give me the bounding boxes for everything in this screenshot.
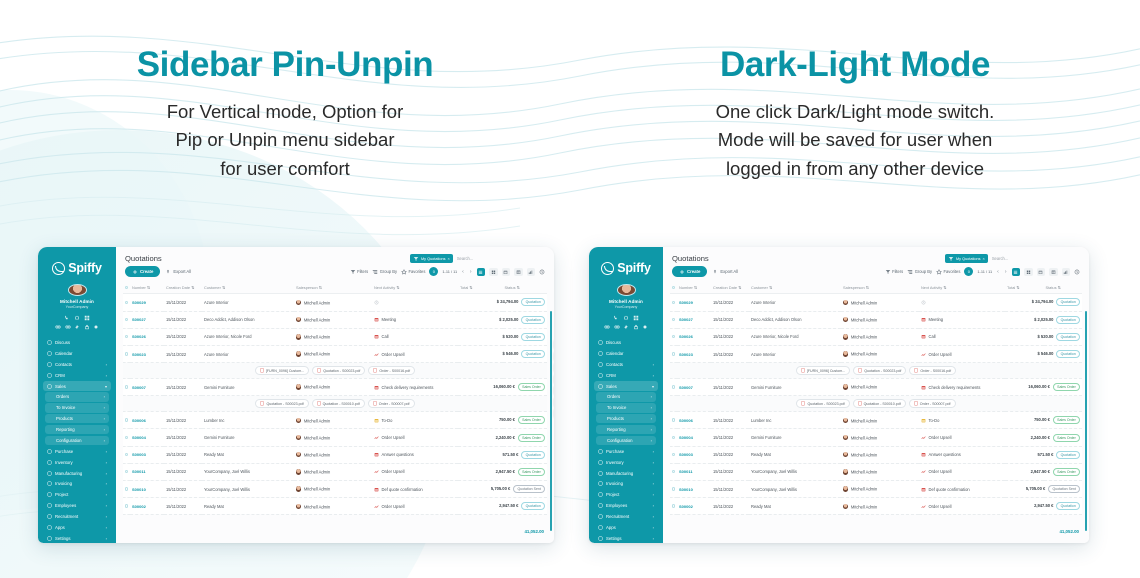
row-checkbox-cell[interactable] [123, 463, 130, 480]
attachment-name: Order - S00016.pdf [379, 369, 410, 373]
row-checkbox-cell[interactable] [670, 379, 677, 396]
checkbox-icon[interactable] [672, 301, 675, 304]
sidebar-item-discuss[interactable]: Discuss [594, 338, 658, 347]
sidebar-item-calendar[interactable]: Calendar [594, 349, 658, 358]
select-all-header[interactable] [670, 282, 677, 294]
grid-icon[interactable] [633, 315, 639, 321]
row-checkbox-cell[interactable] [670, 446, 677, 463]
cell-creation-date: 15/11/2022 [164, 311, 202, 328]
row-checkbox-cell[interactable] [123, 294, 130, 311]
sidebar-item-contacts[interactable]: Contacts› [43, 360, 111, 369]
row-checkbox-cell[interactable] [123, 481, 130, 498]
salesperson-name: Mitchell Admin [304, 470, 330, 475]
close-icon[interactable]: × [982, 256, 984, 261]
row-checkbox-cell[interactable] [123, 498, 130, 515]
checkbox-icon[interactable] [125, 504, 128, 507]
search-area[interactable]: My Quotations × Search... [945, 254, 1080, 263]
table-row[interactable]: S0000615/11/2022Lumber IncMitchell Admin… [123, 412, 547, 429]
pager-next-button[interactable]: › [1004, 269, 1008, 275]
quick-icons-row-1[interactable] [64, 315, 90, 321]
chevron-right-icon[interactable]: › [106, 503, 107, 508]
lock-icon[interactable] [84, 324, 90, 330]
row-checkbox-cell[interactable] [670, 498, 677, 515]
cell-number[interactable]: S00004 [677, 429, 711, 446]
sidebar-item-orders[interactable]: Orders› [596, 392, 656, 401]
table-row[interactable]: S0001015/11/2022YourCompany, Joel Willis… [670, 481, 1082, 498]
table-head: Number ⇅Creation Date ⇅Customer ⇅Salespe… [123, 282, 547, 294]
chevron-right-icon[interactable]: › [653, 362, 654, 367]
attachment-chip[interactable]: Quotation - S00023.pdf [255, 399, 308, 408]
export-all-button[interactable]: Export All [712, 269, 738, 275]
primary-actions: Create Export All [672, 266, 738, 277]
cell-salesperson: Mitchell Admin [841, 311, 919, 328]
call-icon[interactable] [613, 315, 619, 321]
brand-logo[interactable]: Spiffy [601, 261, 651, 275]
cell-number[interactable]: S00027 [130, 311, 164, 328]
attachment-chip[interactable]: Order - S00016.pdf [368, 366, 415, 375]
chevron-right-icon[interactable]: › [106, 525, 107, 530]
sales-icon [47, 384, 52, 389]
create-button[interactable]: Create [672, 266, 707, 277]
sidebar-item-to-invoice[interactable]: To Invoice› [45, 403, 109, 412]
project-icon [598, 492, 603, 497]
calendar-view-button[interactable] [502, 268, 511, 276]
chevron-right-icon[interactable]: › [653, 525, 654, 530]
cell-customer: Ready Mat [202, 498, 294, 515]
quick-icons-row-2[interactable] [55, 324, 99, 330]
column-header-number[interactable]: Number ⇅ [677, 282, 711, 294]
checkbox-icon[interactable] [672, 352, 675, 355]
chevron-right-icon[interactable]: › [651, 427, 652, 432]
chevron-right-icon[interactable]: › [651, 405, 652, 410]
pin-icon[interactable] [74, 324, 80, 330]
checkbox-icon[interactable] [125, 436, 128, 439]
export-all-button[interactable]: Export All [165, 269, 191, 275]
table-row[interactable]: S0000615/11/2022Lumber IncMitchell Admin… [670, 412, 1082, 429]
search-input[interactable]: Search... [992, 256, 1080, 261]
sidebar-item-to-invoice[interactable]: To Invoice› [596, 403, 656, 412]
sidebar-item-project[interactable]: Project› [43, 490, 111, 499]
pin-icon[interactable] [623, 324, 629, 330]
checkbox-icon[interactable] [125, 318, 128, 321]
checkbox-icon[interactable] [125, 453, 128, 456]
table-row[interactable]: S0000215/11/2022Ready MatMitchell AdminO… [123, 498, 547, 515]
table-row[interactable]: S0002915/11/2022Azure InteriorMitchell A… [670, 294, 1082, 311]
sidebar-item-crm[interactable]: CRM› [594, 371, 658, 380]
cell-number[interactable]: S00003 [677, 446, 711, 463]
gear-icon [47, 536, 52, 541]
checkbox-icon[interactable] [125, 286, 128, 289]
chevron-right-icon[interactable]: › [104, 394, 105, 399]
bell-icon[interactable] [74, 315, 80, 321]
table-row[interactable]: S0002315/11/2022Azure InteriorMitchell A… [123, 345, 547, 362]
chevron-right-icon[interactable]: › [651, 416, 652, 421]
cell-creation-date: 15/11/2022 [711, 463, 749, 480]
checkbox-icon[interactable] [672, 286, 675, 289]
attachment-chip[interactable]: Quotation - S00010.pdf [853, 399, 906, 408]
list-view-button[interactable] [477, 268, 486, 276]
chevron-right-icon[interactable]: › [106, 514, 107, 519]
attachment-chip[interactable]: Order - S00016.pdf [909, 366, 956, 375]
cell-number[interactable]: S00007 [677, 379, 711, 396]
row-checkbox-cell[interactable] [670, 412, 677, 429]
column-header-creation-date[interactable]: Creation Date ⇅ [711, 282, 749, 294]
status-badge: Quotation [1056, 333, 1080, 341]
table-row[interactable]: S0000715/11/2022Gemini FurnitureMitchell… [123, 379, 547, 396]
column-header-number[interactable]: Number ⇅ [130, 282, 164, 294]
checkbox-icon[interactable] [125, 385, 128, 388]
pivot-view-button[interactable] [514, 268, 523, 276]
filters-button[interactable]: Filters [885, 269, 904, 275]
table-row[interactable]: S0000715/11/2022Gemini FurnitureMitchell… [670, 379, 1082, 396]
total-bar: 41,052.00 [116, 517, 554, 543]
chevron-down-icon[interactable]: ▾ [105, 384, 107, 389]
sidebar-item-label: Manufacturing [55, 471, 103, 476]
sidebar-item-recruitment[interactable]: Recruitment› [43, 512, 111, 521]
cell-number[interactable]: S00010 [130, 481, 164, 498]
sidebar-right[interactable]: Spiffy Mitchell Admin YourCompany [589, 247, 663, 543]
chevron-right-icon[interactable]: › [104, 438, 105, 443]
favorites-button[interactable]: Favorites [401, 269, 425, 275]
close-icon[interactable]: × [447, 256, 449, 261]
attachment-chip[interactable]: [FURN_0096] Custom... [796, 366, 850, 375]
column-header-salesperson[interactable]: Salesperson ⇅ [294, 282, 372, 294]
chevron-right-icon[interactable]: › [653, 492, 654, 497]
row-checkbox-cell[interactable] [123, 311, 130, 328]
checkbox-icon[interactable] [672, 470, 675, 473]
sidebar-item-products[interactable]: Products› [45, 414, 109, 423]
checkbox-icon[interactable] [125, 487, 128, 490]
row-checkbox-cell[interactable] [670, 481, 677, 498]
column-header-total[interactable]: Total ⇅ [1005, 282, 1044, 294]
chevron-right-icon[interactable]: › [106, 471, 107, 476]
cell-number[interactable]: S00026 [677, 328, 711, 345]
sidebar-item-employees[interactable]: Employees› [594, 501, 658, 510]
avatar [296, 384, 301, 389]
chevron-right-icon[interactable]: › [106, 481, 107, 486]
app-window-right: Spiffy Mitchell Admin YourCompany [589, 247, 1089, 543]
avatar [843, 418, 848, 423]
chevron-right-icon[interactable]: › [653, 373, 654, 378]
checkbox-icon[interactable] [672, 318, 675, 321]
chevron-right-icon[interactable]: › [653, 514, 654, 519]
status-badge: Quotation [1056, 502, 1080, 510]
chevron-right-icon[interactable]: › [653, 471, 654, 476]
sidebar-item-inventory[interactable]: Inventory› [594, 458, 658, 467]
graph-view-button[interactable] [1062, 268, 1071, 276]
column-header-next-activity[interactable]: Next Activity ⇅ [372, 282, 458, 294]
filters-label: Filters [357, 269, 368, 274]
checkbox-icon[interactable] [125, 352, 128, 355]
sidebar-item-calendar[interactable]: Calendar [43, 349, 111, 358]
attachment-chip[interactable]: Quotation - S00010.pdf [312, 399, 365, 408]
sidebar-item-label: Reporting [56, 427, 101, 432]
attachment-chip[interactable]: Order - S00007.pdf [368, 399, 415, 408]
cell-number[interactable]: S00010 [677, 481, 711, 498]
group-by-button[interactable]: Group By [372, 269, 397, 275]
attachment-chip[interactable]: Quotation - S00023.pdf [796, 399, 849, 408]
cell-number[interactable]: S00026 [130, 328, 164, 345]
sidebar-item-settings[interactable]: Settings› [594, 534, 658, 543]
attachment-chip[interactable]: [FURN_0096] Custom... [255, 366, 309, 375]
checkbox-icon[interactable] [672, 385, 675, 388]
row-checkbox-cell[interactable] [670, 463, 677, 480]
sidebar-item-orders[interactable]: Orders› [45, 392, 109, 401]
column-header-next-activity[interactable]: Next Activity ⇅ [919, 282, 1005, 294]
row-checkbox-cell[interactable] [670, 311, 677, 328]
pager-prev-button[interactable]: ‹ [461, 269, 465, 275]
cell-number[interactable]: S00002 [130, 498, 164, 515]
sidebar-item-apps[interactable]: Apps› [43, 523, 111, 532]
cell-number[interactable]: S00003 [130, 446, 164, 463]
cell-number[interactable]: S00029 [130, 294, 164, 311]
chevron-right-icon[interactable]: › [651, 438, 652, 443]
activity-view-button[interactable] [539, 269, 545, 275]
cell-customer: Gemini Furniture [749, 379, 841, 396]
cell-number[interactable]: S00002 [677, 498, 711, 515]
cell-total-status: 571.50 €Quotation [458, 446, 547, 463]
chevron-right-icon[interactable]: › [653, 481, 654, 486]
avatar [843, 317, 848, 322]
chevron-right-icon[interactable]: › [653, 449, 654, 454]
power-icon[interactable] [642, 324, 648, 330]
sidebar-menu[interactable]: DiscussCalendarContacts›CRM›Sales▾Orders… [43, 338, 111, 543]
checkbox-icon[interactable] [125, 470, 128, 473]
row-checkbox-cell[interactable] [670, 345, 677, 362]
row-checkbox-cell[interactable] [670, 429, 677, 446]
sidebar-item-products[interactable]: Products› [596, 414, 656, 423]
table-row[interactable]: S0000315/11/2022Ready MatMitchell AdminA… [670, 446, 1082, 463]
chevron-right-icon[interactable]: › [651, 394, 652, 399]
checkbox-icon[interactable] [672, 453, 675, 456]
link2-icon[interactable] [65, 324, 71, 330]
pdf-icon [260, 401, 264, 406]
sidebar-item-manufacturing[interactable]: Manufacturing› [43, 468, 111, 477]
checkbox-icon[interactable] [125, 301, 128, 304]
cell-total-status: 2,947.50 €Sales Order [458, 463, 547, 480]
column-header-salesperson[interactable]: Salesperson ⇅ [841, 282, 919, 294]
sidebar-item-apps[interactable]: Apps› [594, 523, 658, 532]
table-row[interactable]: S0002615/11/2022Azure Interior, Nicole F… [670, 328, 1082, 345]
sidebar-item-sales[interactable]: Sales▾ [43, 381, 111, 390]
chevron-right-icon[interactable]: › [653, 503, 654, 508]
row-checkbox-cell[interactable] [123, 446, 130, 463]
attachment-chip[interactable]: Quotation - S00023.pdf [312, 366, 365, 375]
chevron-right-icon[interactable]: › [653, 460, 654, 465]
group-by-button[interactable]: Group By [907, 269, 932, 275]
sidebar-item-employees[interactable]: Employees› [43, 501, 111, 510]
table-container[interactable]: Number ⇅Creation Date ⇅Customer ⇅Salespe… [116, 282, 554, 517]
brand-logo[interactable]: Spiffy [52, 261, 102, 275]
group-by-label: Group By [380, 269, 397, 274]
cell-number[interactable]: S00027 [677, 311, 711, 328]
activity-label: Answer questions [382, 452, 414, 457]
column-header-total[interactable]: Total ⇅ [458, 282, 503, 294]
attachment-chip[interactable]: Quotation - S00023.pdf [853, 366, 906, 375]
sidebar-item-purchase[interactable]: Purchase› [43, 447, 111, 456]
subtitle-line: For Vertical mode, Option for [0, 98, 570, 126]
cell-number[interactable]: S00006 [130, 412, 164, 429]
link-icon[interactable] [55, 324, 61, 330]
table-row[interactable]: S0002915/11/2022Azure InteriorMitchell A… [123, 294, 547, 311]
sidebar-item-invoicing[interactable]: Invoicing› [594, 479, 658, 488]
sidebar-item-sales[interactable]: Sales▾ [594, 381, 658, 390]
kanban-view-button[interactable] [489, 268, 498, 276]
row-checkbox-cell[interactable] [123, 345, 130, 362]
cell-salesperson: Mitchell Admin [841, 463, 919, 480]
cell-number[interactable]: S00029 [677, 294, 711, 311]
scrollbar[interactable] [550, 311, 552, 531]
table-row[interactable]: S0000315/11/2022Ready MatMitchell AdminA… [123, 446, 547, 463]
table-row[interactable]: S0001015/11/2022YourCompany, Joel Willis… [123, 481, 547, 498]
checkbox-icon[interactable] [672, 418, 675, 421]
pivot-view-button[interactable] [1049, 268, 1058, 276]
filters-button[interactable]: Filters [350, 269, 369, 275]
checkbox-icon[interactable] [672, 504, 675, 507]
call-icon[interactable] [64, 315, 70, 321]
pager-next-button[interactable]: › [469, 269, 473, 275]
column-header-status[interactable]: Status ⇅ [1044, 282, 1083, 294]
row-checkbox-cell[interactable] [123, 429, 130, 446]
row-checkbox-cell[interactable] [123, 328, 130, 345]
chevron-right-icon[interactable]: › [106, 362, 107, 367]
chevron-right-icon[interactable]: › [104, 427, 105, 432]
search-facet[interactable]: My Quotations × [410, 254, 453, 263]
activity-icon [1074, 269, 1080, 275]
graph-view-button[interactable] [527, 268, 536, 276]
screenshot-left: Spiffy Mitchell Admin YourCompany [38, 247, 554, 543]
sidebar-menu[interactable]: DiscussCalendarContacts›CRM›Sales▾Orders… [594, 338, 658, 543]
row-checkbox-cell[interactable] [123, 412, 130, 429]
list-view-button[interactable] [1012, 268, 1021, 276]
status-badge: Quotation Sent [1048, 485, 1080, 493]
link2-icon[interactable] [614, 324, 620, 330]
activity-view-button[interactable] [1074, 269, 1080, 275]
crm-icon [47, 373, 52, 378]
chevron-right-icon[interactable]: › [653, 536, 654, 541]
cell-number[interactable]: S00007 [130, 379, 164, 396]
grid-icon[interactable] [84, 315, 90, 321]
chevron-right-icon[interactable]: › [106, 449, 107, 454]
sidebar-item-purchase[interactable]: Purchase› [594, 447, 658, 456]
table-row[interactable]: S0000215/11/2022Ready MatMitchell AdminO… [670, 498, 1082, 515]
cell-number[interactable]: S00004 [130, 429, 164, 446]
kanban-view-button[interactable] [1024, 268, 1033, 276]
sidebar-item-reporting[interactable]: Reporting› [596, 425, 656, 434]
bell-icon[interactable] [623, 315, 629, 321]
column-header-creation-date[interactable]: Creation Date ⇅ [164, 282, 202, 294]
table-row[interactable]: S0001115/11/2022YourCompany, Joel Willis… [670, 463, 1082, 480]
column-header-status[interactable]: Status ⇅ [503, 282, 548, 294]
table-row[interactable]: S0000415/11/2022Gemini FurnitureMitchell… [123, 429, 547, 446]
sidebar-item-configuration[interactable]: Configuration› [45, 436, 109, 445]
cell-number[interactable]: S00011 [677, 463, 711, 480]
cell-number[interactable]: S00006 [677, 412, 711, 429]
checkbox-icon[interactable] [672, 487, 675, 490]
calendar-view-button[interactable] [1037, 268, 1046, 276]
column-header-customer[interactable]: Customer ⇅ [202, 282, 294, 294]
status-badge: Sales Order [518, 468, 545, 476]
cell-total-status: $ 546.00Quotation [1005, 345, 1082, 362]
sidebar-item-recruitment[interactable]: Recruitment› [594, 512, 658, 521]
search-area[interactable]: My Quotations × Search... [410, 254, 545, 263]
quick-icons-row-1[interactable] [613, 315, 639, 321]
row-checkbox-cell[interactable] [670, 328, 677, 345]
sidebar-item-invoicing[interactable]: Invoicing› [43, 479, 111, 488]
favorites-label: Favorites [944, 269, 961, 274]
table-row[interactable]: S0001115/11/2022YourCompany, Joel Willis… [123, 463, 547, 480]
chevron-right-icon[interactable]: › [106, 536, 107, 541]
checkbox-icon[interactable] [125, 335, 128, 338]
sidebar-item-inventory[interactable]: Inventory› [43, 458, 111, 467]
sidebar-item-reporting[interactable]: Reporting› [45, 425, 109, 434]
chevron-right-icon[interactable]: › [104, 416, 105, 421]
sidebar-left[interactable]: Spiffy Mitchell Admin YourCompany [38, 247, 116, 543]
cell-number[interactable]: S00011 [130, 463, 164, 480]
link-icon[interactable] [604, 324, 610, 330]
total-amount: 16,060.00 € [493, 384, 515, 389]
cell-creation-date: 15/11/2022 [711, 328, 749, 345]
sidebar-item-discuss[interactable]: Discuss [43, 338, 111, 347]
status-badge: Sales Order [1053, 416, 1080, 424]
sidebar-item-settings[interactable]: Settings› [43, 534, 111, 543]
scrollbar[interactable] [1085, 311, 1087, 531]
avatar[interactable] [68, 284, 87, 296]
chevron-right-icon[interactable]: › [104, 405, 105, 410]
sidebar-item-label: Settings [55, 536, 103, 541]
table-row[interactable]: S0002315/11/2022Azure InteriorMitchell A… [670, 345, 1082, 362]
sidebar-item-contacts[interactable]: Contacts› [594, 360, 658, 369]
filter-icon [350, 269, 356, 275]
attachment-chip[interactable]: Order - S00007.pdf [909, 399, 956, 408]
sidebar-item-project[interactable]: Project› [594, 490, 658, 499]
table-row[interactable]: S0002715/11/2022Deco Addict, Addison Ols… [123, 311, 547, 328]
cell-number[interactable]: S00023 [677, 345, 711, 362]
cell-customer: Ready Mat [749, 446, 841, 463]
attachment-name: Quotation - S00010.pdf [864, 402, 901, 406]
search-facet[interactable]: My Quotations × [945, 254, 988, 263]
table-container[interactable]: Number ⇅Creation Date ⇅Customer ⇅Salespe… [663, 282, 1089, 517]
chevron-right-icon[interactable]: › [106, 460, 107, 465]
sidebar-item-manufacturing[interactable]: Manufacturing› [594, 468, 658, 477]
pager-prev-button[interactable]: ‹ [996, 269, 1000, 275]
checkbox-icon[interactable] [672, 335, 675, 338]
favorites-button[interactable]: Favorites [936, 269, 960, 275]
table-row[interactable]: S0002715/11/2022Deco Addict, Addison Ols… [670, 311, 1082, 328]
column-header-customer[interactable]: Customer ⇅ [749, 282, 841, 294]
sidebar-item-configuration[interactable]: Configuration› [596, 436, 656, 445]
search-input[interactable]: Search... [457, 256, 545, 261]
avatar[interactable] [617, 284, 636, 296]
row-checkbox-cell[interactable] [670, 294, 677, 311]
chevron-right-icon[interactable]: › [106, 492, 107, 497]
sidebar-item-crm[interactable]: CRM› [43, 371, 111, 380]
checkbox-icon[interactable] [125, 418, 128, 421]
salesperson-name: Mitchell Admin [304, 504, 330, 509]
cell-number[interactable]: S00023 [130, 345, 164, 362]
select-all-header[interactable] [123, 282, 130, 294]
power-icon[interactable] [93, 324, 99, 330]
chevron-down-icon[interactable]: ▾ [652, 384, 654, 389]
chevron-right-icon[interactable]: › [106, 373, 107, 378]
create-button[interactable]: Create [125, 266, 160, 277]
quick-icons-row-2[interactable] [604, 324, 648, 330]
table-row[interactable]: S0002615/11/2022Azure Interior, Nicole F… [123, 328, 547, 345]
checkbox-icon[interactable] [672, 436, 675, 439]
row-checkbox-cell[interactable] [123, 379, 130, 396]
table-row[interactable]: S0000415/11/2022Gemini FurnitureMitchell… [670, 429, 1082, 446]
lock-icon[interactable] [633, 324, 639, 330]
